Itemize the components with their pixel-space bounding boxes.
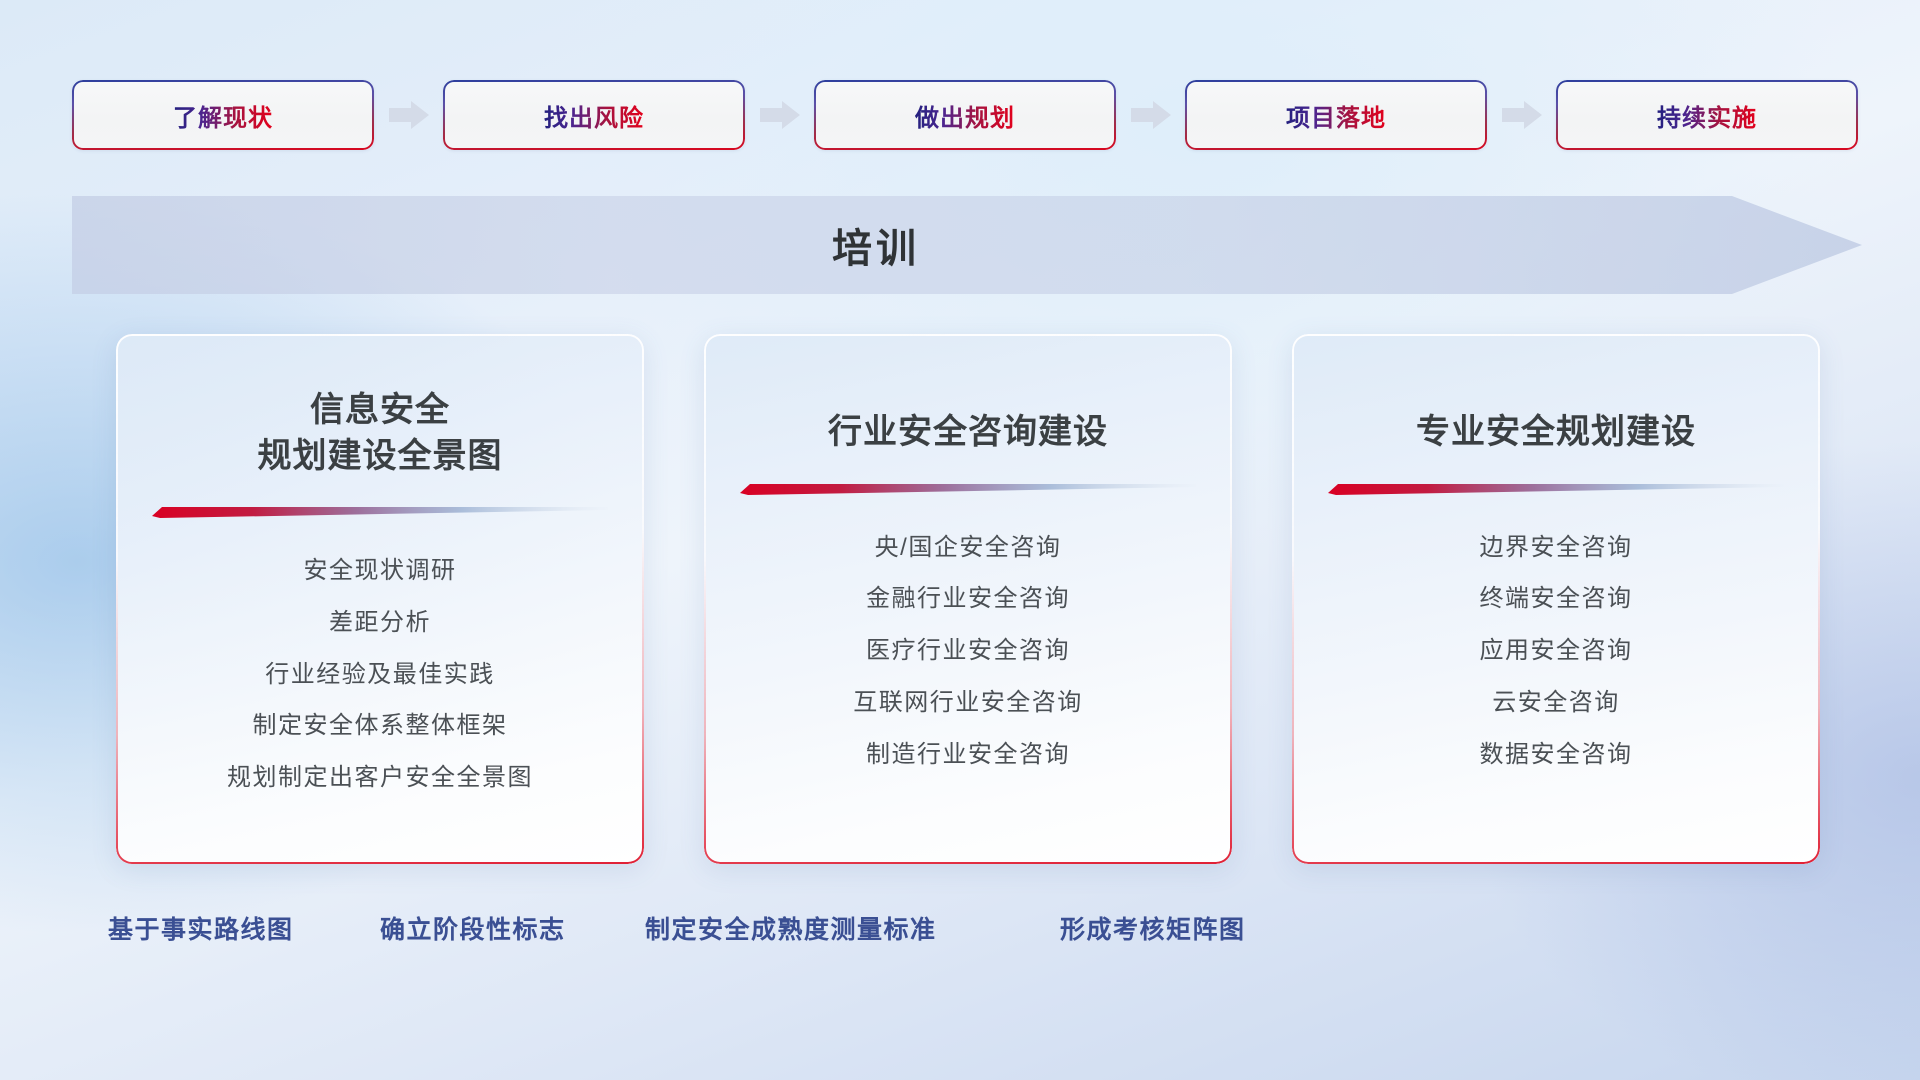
card-row: 信息安全 规划建设全景图 [108,334,1820,874]
process-step-label: 持续实施 [1657,98,1757,133]
card-wrapper: 专业安全规划建设 [1284,334,1820,874]
list-item: 行业经验及最佳实践 [265,655,495,696]
card-list: 央/国企安全咨询 金融行业安全咨询 医疗行业安全咨询 互联网行业安全咨询 制造行… [740,528,1196,776]
card-title: 专业安全规划建设 [1416,410,1696,456]
list-item: 边界安全咨询 [1480,528,1633,569]
caption-label: 形成考核矩阵图 [1060,910,1246,946]
list-item: 差距分析 [329,603,431,644]
card-list: 安全现状调研 差距分析 行业经验及最佳实践 制定安全体系整体框架 规划制定出客户… [152,551,608,799]
list-item: 制定安全体系整体框架 [253,706,508,747]
training-banner: 培训 [72,196,1862,294]
service-card[interactable]: 专业安全规划建设 [1292,334,1820,864]
process-step-chip[interactable]: 持续实施 [1556,80,1858,150]
list-item: 互联网行业安全咨询 [853,683,1083,724]
service-card[interactable]: 信息安全 规划建设全景图 [116,334,644,864]
list-item: 云安全咨询 [1492,683,1620,724]
gradient-rule-icon [152,505,608,519]
arrow-right-icon [1129,98,1173,132]
list-item: 医疗行业安全咨询 [866,631,1070,672]
list-item: 制造行业安全咨询 [866,735,1070,776]
card-title: 信息安全 规划建设全景图 [258,388,503,479]
list-item: 规划制定出客户安全全景图 [227,758,533,799]
caption-label: 确立阶段性标志 [380,910,566,946]
card-title: 行业安全咨询建设 [828,410,1108,456]
process-step-chip[interactable]: 了解现状 [72,80,374,150]
list-item: 金融行业安全咨询 [866,579,1070,620]
list-item: 数据安全咨询 [1480,735,1633,776]
caption-label: 制定安全成熟度测量标准 [645,910,937,946]
process-step-label: 做出规划 [915,98,1015,133]
process-step-chip[interactable]: 找出风险 [443,80,745,150]
caption-row: 基于事实路线图 确立阶段性标志 制定安全成熟度测量标准 形成考核矩阵图 [0,910,1920,958]
gradient-rule-icon [1328,482,1784,496]
arrow-right-icon [387,98,431,132]
arrow-right-icon [1500,98,1544,132]
arrow-right-icon [758,98,802,132]
training-banner-label: 培训 [72,196,1680,294]
process-step-chip[interactable]: 做出规划 [814,80,1116,150]
process-step-label: 找出风险 [544,98,644,133]
process-step-row: 了解现状 找出风险 做出规划 项目落地 [72,78,1858,152]
process-step-chip[interactable]: 项目落地 [1185,80,1487,150]
service-card[interactable]: 行业安全咨询建设 [704,334,1232,864]
slide-canvas: 了解现状 找出风险 做出规划 项目落地 [0,0,1920,1080]
card-list: 边界安全咨询 终端安全咨询 应用安全咨询 云安全咨询 数据安全咨询 [1328,528,1784,776]
process-step-label: 了解现状 [173,98,273,133]
list-item: 应用安全咨询 [1480,631,1633,672]
list-item: 终端安全咨询 [1480,579,1633,620]
process-step-label: 项目落地 [1286,98,1386,133]
card-wrapper: 信息安全 规划建设全景图 [108,334,644,874]
card-wrapper: 行业安全咨询建设 [696,334,1232,874]
list-item: 安全现状调研 [304,551,457,592]
gradient-rule-icon [740,482,1196,496]
list-item: 央/国企安全咨询 [875,528,1062,569]
caption-label: 基于事实路线图 [108,910,294,946]
